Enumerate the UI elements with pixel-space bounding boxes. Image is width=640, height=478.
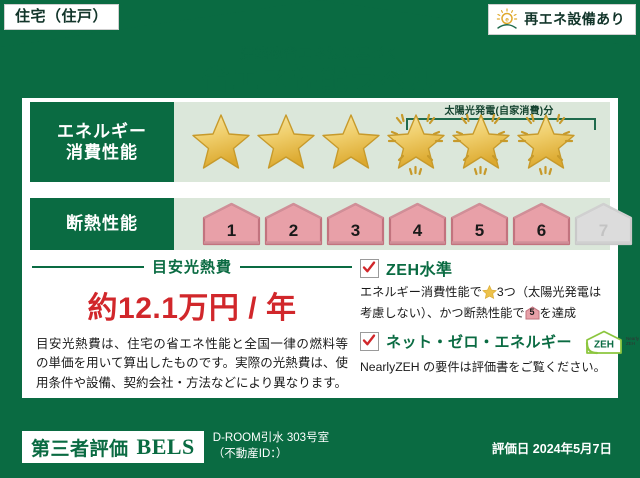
zeh-column: ZEH水準 エネルギー消費性能で3つ（太陽光発電は考慮しない）、かつ断熱性能で5… [360, 256, 608, 382]
evaluation-date: 評価日 2024年5月7日 [492, 438, 618, 457]
insulation-level-number: 7 [574, 202, 633, 246]
zeh-standard-title: ZEH水準 [386, 256, 453, 280]
property-id: （不動産ID：） [213, 447, 329, 463]
net-zero-energy-title: ネット・ゼロ・エネルギー [386, 331, 572, 352]
zeh-logo: ZEH Nearly ZEH [579, 329, 639, 355]
insulation-level-6: 6 [512, 202, 571, 246]
energy-category-line1: エネルギー [57, 121, 147, 142]
svg-text:ZEH: ZEH [594, 339, 614, 350]
insulation-level-3: 3 [326, 202, 385, 246]
insulation-level-number: 5 [450, 202, 509, 246]
utility-cost-note: 目安光熱費は、住宅の省エネ性能と全国一律の燃料等の単価を用いて算出したものです。… [32, 335, 352, 393]
property-info: D-ROOM引水 303号室 （不動産ID：） [213, 431, 329, 462]
energy-star-meter: 太陽光発電(自家消費)分 [174, 102, 610, 182]
zeh-note-part1: エネルギー消費性能で [360, 285, 482, 299]
insulation-level-1: 1 [202, 202, 261, 246]
utility-cost-heading: 目安光熱費 [32, 256, 352, 277]
energy-category-line2: 消費性能 [66, 142, 138, 163]
zeh-standard-block: ZEH水準 エネルギー消費性能で3つ（太陽光発電は考慮しない）、かつ断熱性能で5… [360, 256, 608, 323]
renewable-equipment-label: 再エネ設備あり [524, 12, 625, 26]
insulation-level-7: 7 [574, 202, 633, 246]
insulation-level-2: 2 [264, 202, 323, 246]
energy-category-box: エネルギー 消費性能 [30, 102, 174, 182]
checkmark-icon [360, 259, 379, 278]
insulation-level-number: 4 [388, 202, 447, 246]
star-5 [448, 107, 513, 177]
svg-text:e: e [505, 16, 509, 23]
checkmark-icon [360, 332, 379, 351]
divider-right [240, 266, 352, 268]
sun-icon: e [495, 8, 519, 30]
inline-star-icon [482, 285, 497, 304]
inline-house-icon: 5 [525, 306, 540, 320]
zeh-standard-note: エネルギー消費性能で3つ（太陽光発電は考慮しない）、かつ断熱性能で5を達成 [360, 283, 608, 323]
star-rating [188, 102, 606, 182]
net-zero-energy-note: NearlyZEH の要件は評価書をご覧ください。 [360, 358, 608, 376]
insulation-level-number: 6 [512, 202, 571, 246]
star-4 [383, 107, 448, 177]
star-1 [188, 107, 253, 177]
net-zero-energy-header: ネット・ゼロ・エネルギー ZEH Nearly ZEH [360, 329, 608, 355]
insulation-level-meter: 1234567 [174, 198, 610, 250]
zeh-logo-sub2: ZEH [626, 341, 635, 346]
inline-house-level: 5 [525, 306, 540, 320]
label-footer: 第三者評価 BELS D-ROOM引水 303号室 （不動産ID：） 評価日 2… [22, 428, 618, 466]
insulation-levels: 1234567 [202, 200, 604, 248]
utility-cost-value: 約12.1万円 / 年 [32, 283, 352, 327]
insulation-level-5: 5 [450, 202, 509, 246]
star-3 [318, 107, 383, 177]
insulation-category-box: 断熱性能 [30, 198, 174, 250]
house-type-label: 住宅（住戸） [15, 8, 108, 25]
net-zero-energy-block: ネット・ゼロ・エネルギー ZEH Nearly ZEH NearlyZEH [360, 329, 608, 376]
label-body-card: エネルギー 消費性能 太陽光発電(自家消費)分 断熱性能 1234567 目安光… [22, 98, 618, 398]
insulation-level-number: 2 [264, 202, 323, 246]
energy-label-root: 住宅（住戸） e 再エネ設備あり 建築物省エネ法に基づく 省エネ性能ラベ [0, 0, 640, 478]
divider-left [32, 266, 144, 268]
zeh-note-part3: を達成 [540, 306, 577, 320]
insulation-level-number: 1 [202, 202, 261, 246]
star-2 [253, 107, 318, 177]
utility-cost-column: 目安光熱費 約12.1万円 / 年 目安光熱費は、住宅の省エネ性能と全国一律の燃… [32, 256, 352, 393]
renewable-equipment-badge: e 再エネ設備あり [488, 4, 636, 35]
insulation-performance-row: 断熱性能 1234567 [22, 198, 618, 250]
utility-cost-heading-label: 目安光熱費 [152, 256, 232, 277]
bels-badge: 第三者評価 BELS [22, 431, 204, 463]
bels-en-label: BELS [137, 434, 195, 460]
property-name: D-ROOM引水 303号室 [213, 431, 329, 447]
bels-jp-label: 第三者評価 [31, 434, 129, 461]
house-type-badge: 住宅（住戸） [4, 4, 119, 30]
star-6 [513, 107, 578, 177]
page-title: 省エネ性能ラベル [0, 58, 640, 98]
insulation-level-4: 4 [388, 202, 447, 246]
zeh-standard-header: ZEH水準 [360, 256, 608, 280]
energy-performance-row: エネルギー 消費性能 太陽光発電(自家消費)分 [22, 102, 618, 182]
insulation-level-number: 3 [326, 202, 385, 246]
zeh-logo-sub: Nearly ZEH [626, 337, 639, 346]
insulation-category-label: 断熱性能 [66, 213, 138, 234]
